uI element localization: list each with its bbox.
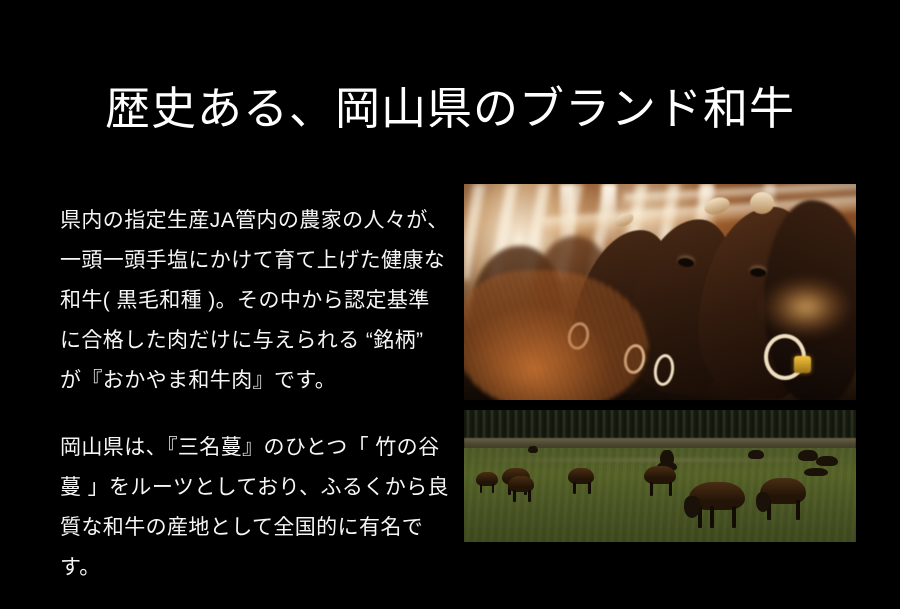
cow-leg [710, 506, 714, 528]
body-paragraph-2: 岡山県は、『三名蔓』のひとつ「 竹の谷蔓 」をルーツとしており、ふるくから良質な… [60, 428, 450, 588]
barn-post [602, 184, 616, 246]
body-paragraph-1: 県内の指定生産JA管内の農家の人々が、一頭一頭手塩にかけて育て上げた健康な和牛(… [60, 201, 450, 401]
cow-leg [650, 482, 653, 496]
grazing-cow-distant [748, 450, 764, 459]
cow-head [756, 492, 770, 512]
barn-cattle-photo [464, 184, 856, 400]
pasture-treeline [464, 410, 856, 440]
warm-bokeh-highlight [760, 276, 852, 338]
cow-leg [732, 506, 736, 528]
pasture-cattle-photo [464, 410, 856, 542]
cow-leg [513, 490, 516, 502]
cow-leg [480, 484, 482, 493]
body-text-column: 県内の指定生産JA管内の農家の人々が、一頭一頭手塩にかけて育て上げた健康な和牛(… [60, 180, 450, 609]
cow-leg [573, 482, 576, 494]
cow-ear-tag [794, 356, 811, 373]
photo-column [464, 184, 856, 542]
cow-leg [588, 482, 591, 494]
cow-leg [669, 482, 672, 496]
page-title: 歴史ある、岡山県のブランド和牛 [0, 82, 900, 136]
grazing-cow-distant [528, 446, 538, 453]
wagyu-promo-banner: 歴史ある、岡山県のブランド和牛 県内の指定生産JA管内の農家の人々が、一頭一頭手… [0, 0, 900, 600]
grazing-cow-resting [804, 468, 828, 476]
cow-horn [750, 192, 774, 214]
cow-leg [796, 500, 800, 520]
grazing-cow-distant [798, 450, 818, 461]
cow-leg [492, 484, 494, 493]
cow-head [684, 496, 700, 518]
cow-leg [528, 490, 531, 502]
grazing-cow-distant [816, 456, 838, 466]
